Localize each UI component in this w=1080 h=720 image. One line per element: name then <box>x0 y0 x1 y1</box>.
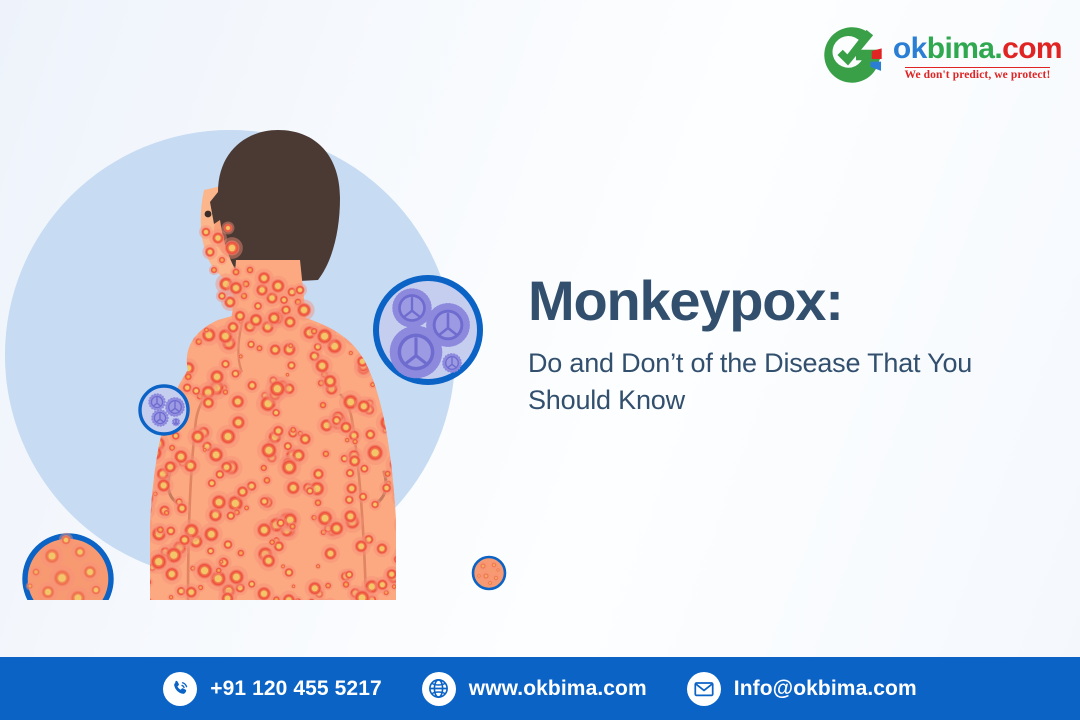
phone-icon <box>163 672 197 706</box>
monkeypox-promo-banner: okbima.com We don't predict, we protect! <box>0 0 1080 720</box>
brand-wordmark-text: okbima.com <box>893 34 1062 64</box>
page-title: Monkeypox: <box>528 272 1028 331</box>
brand-wordmark: okbima.com We don't predict, we protect! <box>893 30 1062 81</box>
green-circle-check-e-icon <box>819 22 885 88</box>
brand-tagline: We don't predict, we protect! <box>905 67 1051 81</box>
virus-callout-small <box>140 386 188 434</box>
wordmark-com: com <box>1002 32 1062 65</box>
wordmark-dot: . <box>994 32 1002 65</box>
virus-callout-large <box>376 278 480 382</box>
website-url: www.okbima.com <box>469 677 647 701</box>
contact-phone[interactable]: +91 120 455 5217 <box>163 672 382 706</box>
monkeypox-rash-body-illustration <box>0 120 520 600</box>
contact-email[interactable]: Info@okbima.com <box>687 672 917 706</box>
contact-website[interactable]: www.okbima.com <box>422 672 647 706</box>
brand-logo[interactable]: okbima.com We don't predict, we protect! <box>819 22 1062 88</box>
lesion-callout-small <box>473 557 505 589</box>
headline-block: Monkeypox: Do and Don’t of the Disease T… <box>528 272 1028 418</box>
page-subtitle: Do and Don’t of the Disease That You Sho… <box>528 345 1028 418</box>
globe-icon <box>422 672 456 706</box>
phone-number: +91 120 455 5217 <box>210 677 382 701</box>
lesion-callout-large <box>25 533 111 600</box>
wordmark-ok: ok <box>893 32 927 65</box>
contact-footer-bar: +91 120 455 5217 www.okbima.com Info <box>0 657 1080 720</box>
eye <box>205 211 212 218</box>
wordmark-bima: bima <box>927 32 995 65</box>
envelope-icon <box>687 672 721 706</box>
email-address: Info@okbima.com <box>734 677 917 701</box>
